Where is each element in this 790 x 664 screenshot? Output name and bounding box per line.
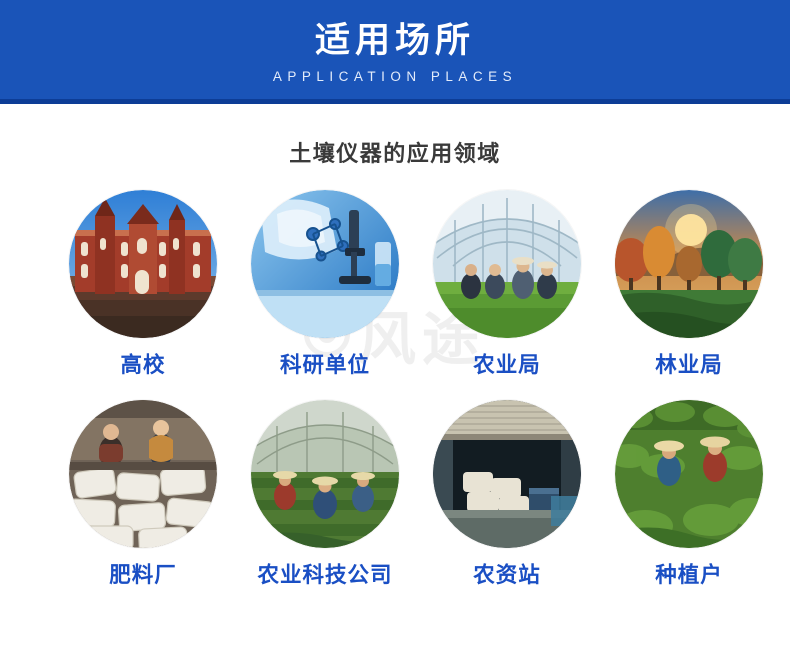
- section-heading: 土壤仪器的应用领域: [0, 136, 790, 168]
- fertilizer-factory-photo: [69, 400, 217, 548]
- place-item: 林业局: [598, 190, 780, 378]
- place-item: 肥料厂: [52, 400, 234, 588]
- agri-tech-greenhouse-photo: [251, 400, 399, 548]
- place-item: 高校: [52, 190, 234, 378]
- place-item: 农资站: [416, 400, 598, 588]
- place-label: 肥料厂: [109, 564, 177, 588]
- banner-subtitle: APPLICATION PLACES: [273, 69, 517, 84]
- place-label: 高校: [120, 354, 165, 378]
- page-banner: 适用场所 APPLICATION PLACES: [0, 0, 790, 104]
- application-places-page: 适用场所 APPLICATION PLACES 土壤仪器的应用领域 风途: [0, 0, 790, 664]
- place-label: 林业局: [655, 354, 723, 378]
- place-label: 农业科技公司: [257, 564, 392, 588]
- place-label: 种植户: [655, 564, 723, 588]
- greenhouse-agriculture-bureau-photo: [433, 190, 581, 338]
- banner-title: 适用场所: [315, 20, 475, 62]
- place-item: 农业局: [416, 190, 598, 378]
- place-label: 农资站: [473, 564, 541, 588]
- place-label: 农业局: [473, 354, 541, 378]
- farmers-field-photo: [615, 400, 763, 548]
- forest-autumn-photo: [615, 190, 763, 338]
- laboratory-research-photo: [251, 190, 399, 338]
- application-places-grid: 高校: [0, 190, 790, 587]
- university-building-photo: [69, 190, 217, 338]
- agricultural-supply-station-photo: [433, 400, 581, 548]
- place-item: 种植户: [598, 400, 780, 588]
- place-item: 科研单位: [234, 190, 416, 378]
- place-label: 科研单位: [280, 354, 370, 378]
- place-item: 农业科技公司: [234, 400, 416, 588]
